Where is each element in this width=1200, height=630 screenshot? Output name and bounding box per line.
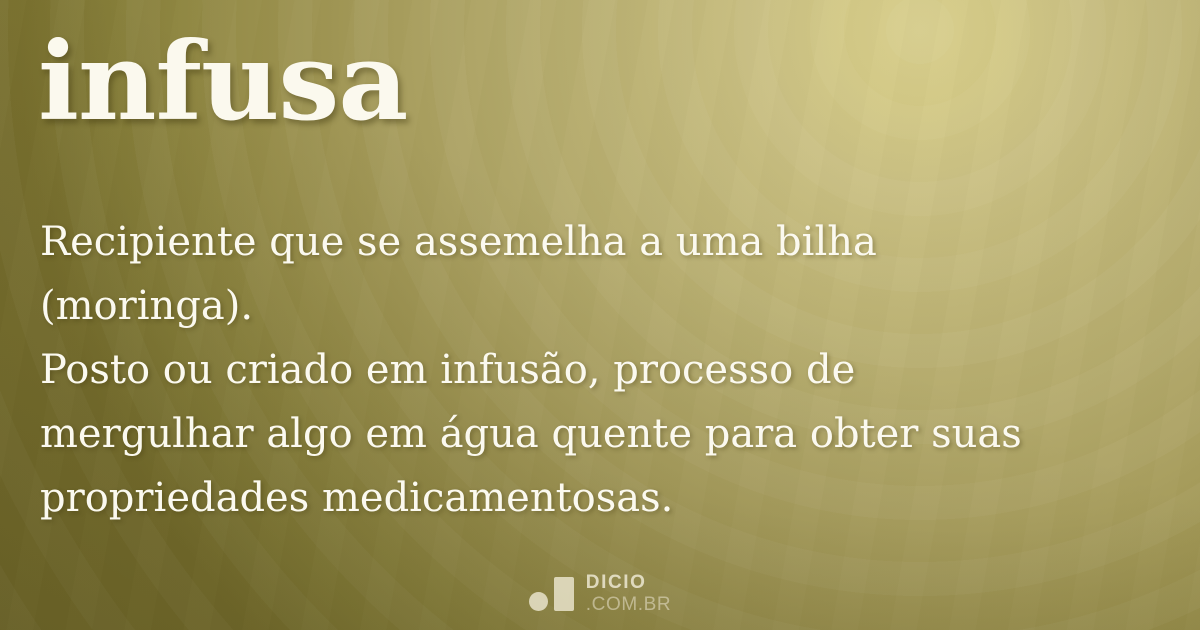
logo-secondary-text: .COM.BR [586,595,671,614]
definition-line: Posto ou criado em infusão, processo de [40,338,1150,402]
definition-line: mergulhar algo em água quente para obter… [40,402,1150,466]
logo-mark-icon [529,577,574,611]
logo-bar-icon [554,577,574,611]
definition-line: (moringa). [40,274,1150,338]
logo-wordmark: DICIO .COM.BR [586,573,671,614]
card-content: infusa Recipiente que se assemelha a uma… [0,0,1200,630]
definition-text-block: Recipiente que se assemelha a uma bilha … [40,210,1150,530]
logo-primary-text: DICIO [586,573,671,592]
page-title: infusa [38,22,407,143]
definition-line: propriedades medicamentosas. [40,466,1150,530]
logo-circle-icon [529,592,548,611]
dictionary-definition-card: infusa Recipiente que se assemelha a uma… [0,0,1200,630]
site-logo: DICIO .COM.BR [0,573,1200,614]
definition-line: Recipiente que se assemelha a uma bilha [40,210,1150,274]
